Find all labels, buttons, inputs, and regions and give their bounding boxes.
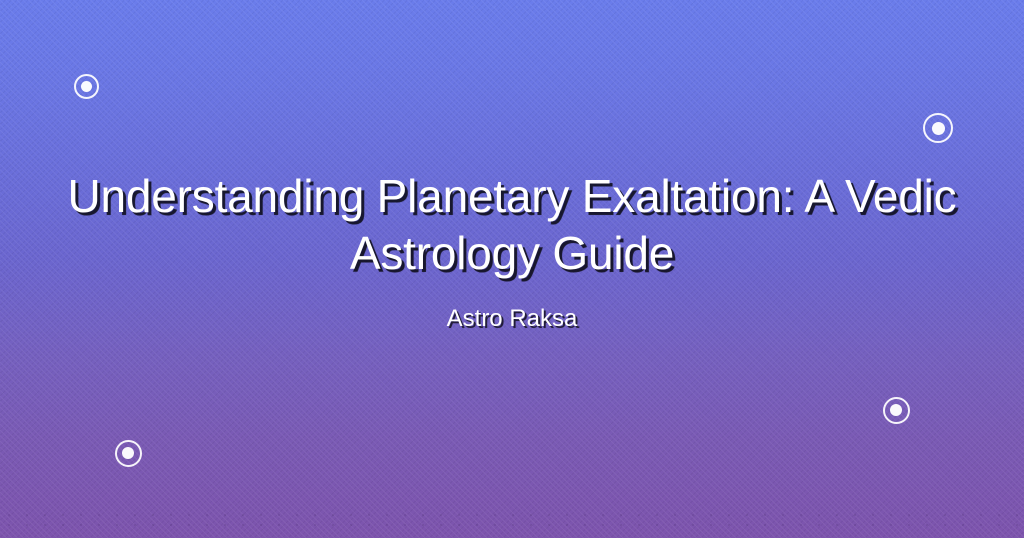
ring-dot-icon	[923, 113, 953, 143]
ring-dot-icon	[883, 397, 910, 424]
ring-dot-icon	[115, 440, 142, 467]
ring-dot-icon	[74, 74, 99, 99]
ring-dot-core	[81, 81, 92, 92]
ring-dot-core	[890, 404, 902, 416]
dot-row-bottom	[0, 510, 1024, 530]
page-title: Understanding Planetary Exaltation: A Ve…	[30, 168, 994, 282]
ring-dot-core	[932, 122, 945, 135]
title-slide: Understanding Planetary Exaltation: A Ve…	[0, 0, 1024, 538]
dot-row-top	[0, 4, 1024, 10]
slide-subtitle: Astro Raksa	[30, 304, 994, 334]
ring-dot-core	[122, 447, 134, 459]
slide-text-block: Understanding Planetary Exaltation: A Ve…	[0, 168, 1024, 334]
